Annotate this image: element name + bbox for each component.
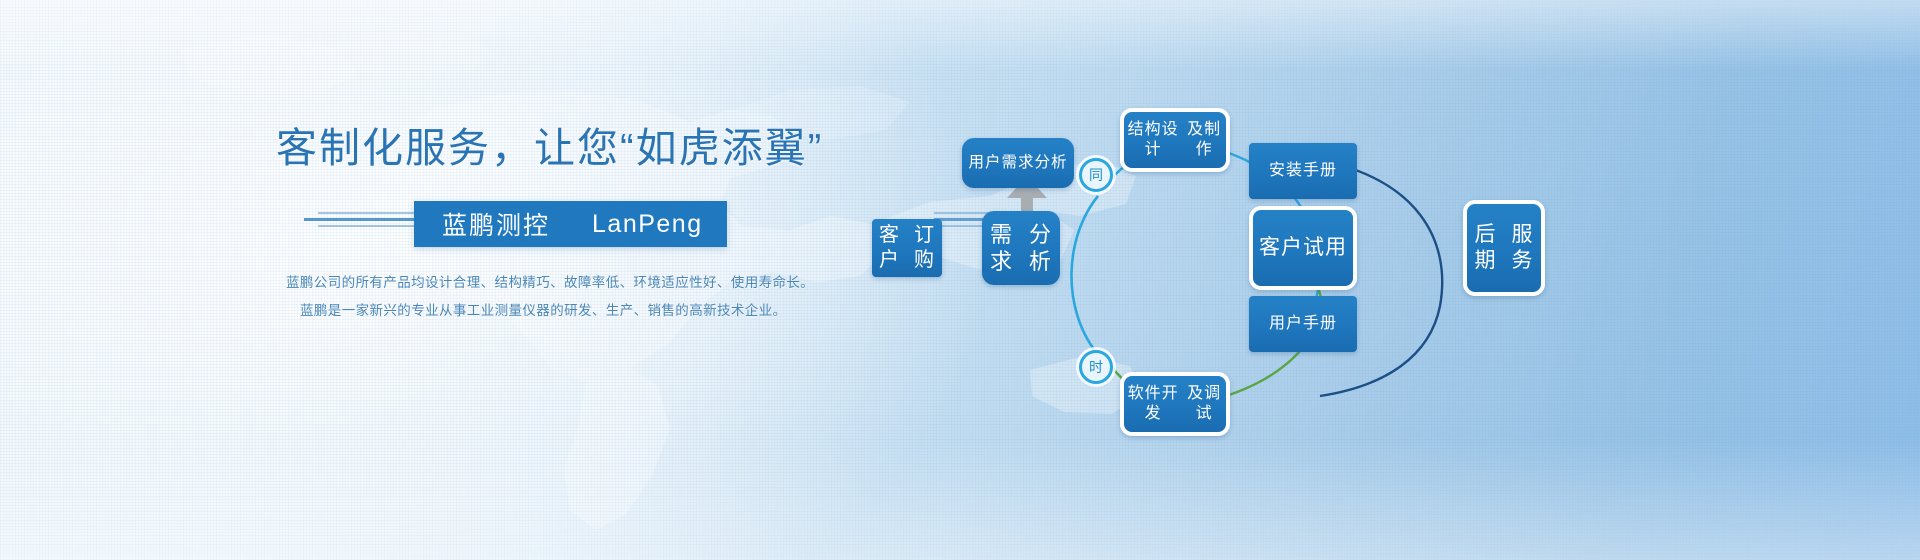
- flow-node-user-manual[interactable]: 用户手册: [1249, 296, 1357, 352]
- process-flow-diagram: 客户订购 需求分析 用户需求分析 结构设计及制作 软件开发及调试 安装手册 客户…: [0, 0, 1920, 560]
- flow-node-software-dev[interactable]: 软件开发及调试: [1120, 372, 1230, 436]
- badge-tong[interactable]: 同: [1079, 158, 1113, 192]
- arc-cyan-left: [1071, 196, 1098, 352]
- flow-node-customer-trial[interactable]: 客户试用: [1249, 206, 1357, 290]
- flow-node-install-manual[interactable]: 安装手册: [1249, 143, 1357, 199]
- flow-node-customer-order[interactable]: 客户订购: [872, 219, 942, 277]
- flow-node-structure-design[interactable]: 结构设计及制作: [1120, 108, 1230, 172]
- badge-shi[interactable]: 时: [1079, 350, 1113, 384]
- flow-connector-arcs: [0, 0, 1920, 560]
- flow-node-user-requirement[interactable]: 用户需求分析: [962, 138, 1074, 188]
- flow-node-after-service[interactable]: 后期服务: [1463, 200, 1545, 296]
- flow-node-demand-analysis[interactable]: 需求分析: [982, 211, 1060, 285]
